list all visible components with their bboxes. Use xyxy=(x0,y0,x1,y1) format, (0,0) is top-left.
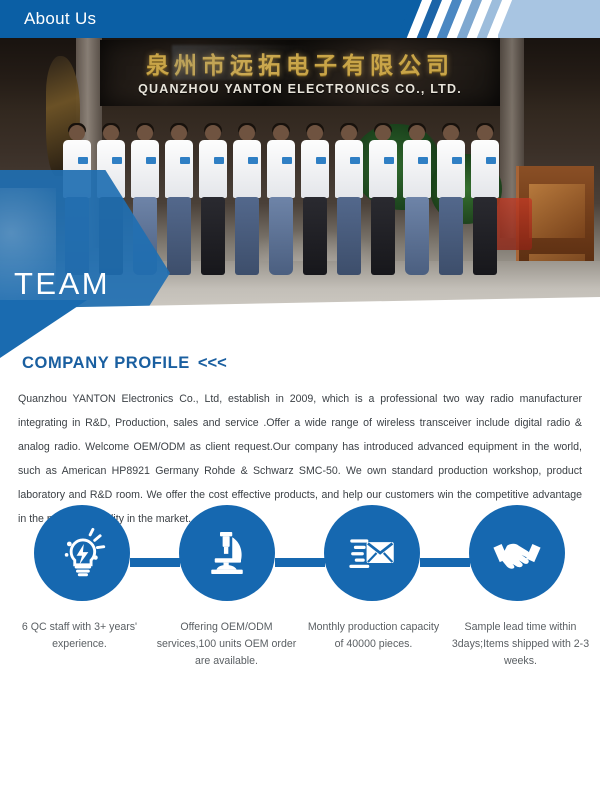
team-member xyxy=(266,125,296,275)
envelope-mail-icon xyxy=(343,524,401,582)
team-member xyxy=(300,125,330,275)
feature-circle-2[interactable] xyxy=(179,505,275,601)
company-profile-heading-text: COMPANY PROFILE xyxy=(22,354,190,372)
chevron-left-triple-icon: <<< xyxy=(198,354,227,372)
feature-caption-4: Sample lead time within 3days;Items ship… xyxy=(447,619,594,670)
feature-connector-1 xyxy=(130,558,180,567)
lightbulb-idea-icon xyxy=(53,524,111,582)
team-member xyxy=(334,125,364,275)
feature-caption-2: Offering OEM/ODM services,100 units OEM … xyxy=(153,619,300,670)
feature-caption-3: Monthly production capacity of 40000 pie… xyxy=(300,619,447,670)
team-overlay-label: TEAM xyxy=(14,266,110,302)
feature-icons-row xyxy=(0,505,600,613)
team-member xyxy=(436,125,466,275)
features-section: 6 QC staff with 3+ years' experience. Of… xyxy=(0,505,600,670)
feature-connector-3 xyxy=(420,558,470,567)
feature-circle-4[interactable] xyxy=(469,505,565,601)
page-header: About Us xyxy=(0,0,600,38)
team-member xyxy=(470,125,500,275)
feature-connector-2 xyxy=(275,558,325,567)
sign-text-english: QUANZHOU YANTON ELECTRONICS CO., LTD. xyxy=(100,82,500,96)
handshake-icon xyxy=(488,524,546,582)
page-title: About Us xyxy=(24,7,96,31)
feature-circle-3[interactable] xyxy=(324,505,420,601)
team-member xyxy=(232,125,262,275)
team-member xyxy=(164,125,194,275)
feature-circle-1[interactable] xyxy=(34,505,130,601)
company-profile-section: COMPANY PROFILE<<< Quanzhou YANTON Elect… xyxy=(0,340,600,531)
sign-text-chinese: 泉州市远拓电子有限公司 xyxy=(100,46,500,80)
team-member xyxy=(198,125,228,275)
microscope-machine-icon xyxy=(199,525,255,581)
about-us-page: About Us 泉州市远拓电子有限公司 QUANZHOU YANTON ELE… xyxy=(0,0,600,800)
company-sign-plaque: 泉州市远拓电子有限公司 QUANZHOU YANTON ELECTRONICS … xyxy=(100,40,500,106)
feature-captions-row: 6 QC staff with 3+ years' experience. Of… xyxy=(0,619,600,670)
header-stripes-decoration xyxy=(404,0,600,38)
team-member xyxy=(368,125,398,275)
team-photo: 泉州市远拓电子有限公司 QUANZHOU YANTON ELECTRONICS … xyxy=(0,38,600,323)
feature-caption-1: 6 QC staff with 3+ years' experience. xyxy=(6,619,153,670)
company-profile-heading: COMPANY PROFILE<<< xyxy=(22,354,600,373)
team-member xyxy=(402,125,432,275)
